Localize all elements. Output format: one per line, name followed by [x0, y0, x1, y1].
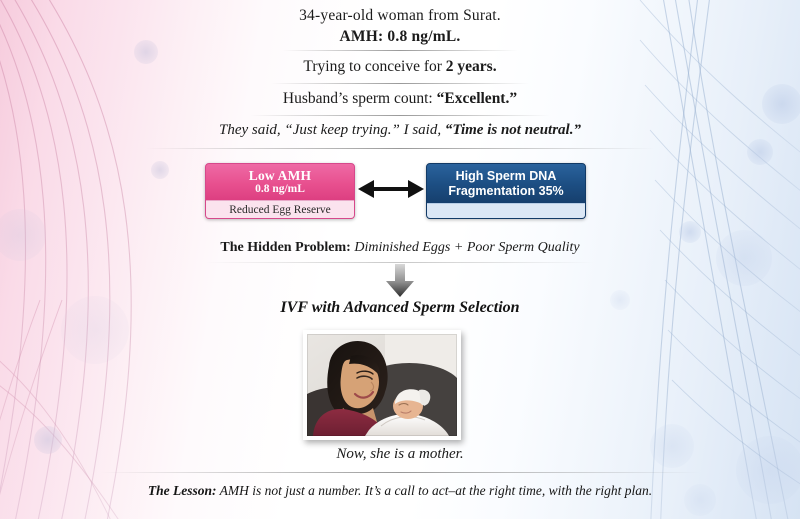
double-headed-arrow-icon: [356, 176, 426, 202]
divider-4: [145, 148, 655, 149]
sperm-prefix: Husband’s sperm count:: [283, 90, 437, 107]
sperm-dna-title-line1: High Sperm DNA: [456, 169, 557, 183]
low-amh-box-header: Low AMH 0.8 ng/mL: [206, 164, 354, 200]
ttc-prefix: Trying to conceive for: [303, 58, 445, 75]
hidden-problem-rest: Diminished Eggs + Poor Sperm Quality: [351, 240, 580, 255]
quote-text: They said, “Just keep trying.” I said, “…: [219, 122, 581, 139]
divider-5: [205, 262, 595, 263]
divider-6: [100, 472, 700, 473]
mother-baby-photo-frame: [303, 330, 461, 440]
low-amh-value: 0.8 ng/mL: [255, 183, 305, 195]
mother-holding-newborn-photo: [307, 334, 457, 436]
lesson-lead: The Lesson:: [148, 483, 217, 498]
sperm-count-text: Husband’s sperm count: “Excellent.”: [283, 90, 517, 108]
quote-emphasis: “Time is not neutral.”: [445, 122, 581, 138]
sperm-dna-footer: [427, 203, 585, 218]
sperm-value: “Excellent.”: [437, 90, 518, 107]
sperm-dna-box-header: High Sperm DNA Fragmentation 35%: [427, 164, 585, 203]
down-arrow-icon: [384, 264, 416, 298]
hidden-problem-text: The Hidden Problem: Diminished Eggs + Po…: [220, 240, 579, 256]
quote-prefix: They said, “Just keep trying.” I said,: [219, 122, 445, 138]
sperm-dna-fragmentation-box[interactable]: High Sperm DNA Fragmentation 35%: [426, 163, 586, 219]
divider-2: [271, 83, 529, 84]
lesson-rest: AMH is not just a number. It’s a call to…: [217, 483, 653, 498]
slide-canvas: 34-year-old woman from Surat. AMH: 0.8 n…: [0, 0, 800, 519]
low-amh-title: Low AMH: [249, 169, 312, 183]
slide-content: 34-year-old woman from Surat. AMH: 0.8 n…: [0, 0, 800, 519]
photo-caption: Now, she is a mother.: [336, 446, 463, 463]
low-amh-footer: Reduced Egg Reserve: [206, 200, 354, 219]
ttc-duration: 2 years.: [446, 58, 497, 75]
hidden-problem-lead: The Hidden Problem:: [220, 240, 350, 255]
low-amh-box[interactable]: Low AMH 0.8 ng/mL Reduced Egg Reserve: [205, 163, 355, 219]
ttc-text: Trying to conceive for 2 years.: [303, 58, 496, 76]
treatment-text: IVF with Advanced Sperm Selection: [280, 299, 519, 317]
divider-3: [250, 115, 550, 116]
divider-1: [283, 50, 518, 51]
case-age-city-text: 34-year-old woman from Surat.: [299, 7, 501, 25]
lesson-text: The Lesson: AMH is not just a number. It…: [148, 483, 652, 499]
case-amh-text: AMH: 0.8 ng/mL.: [340, 28, 461, 46]
sperm-dna-title-line2: Fragmentation 35%: [448, 184, 563, 198]
